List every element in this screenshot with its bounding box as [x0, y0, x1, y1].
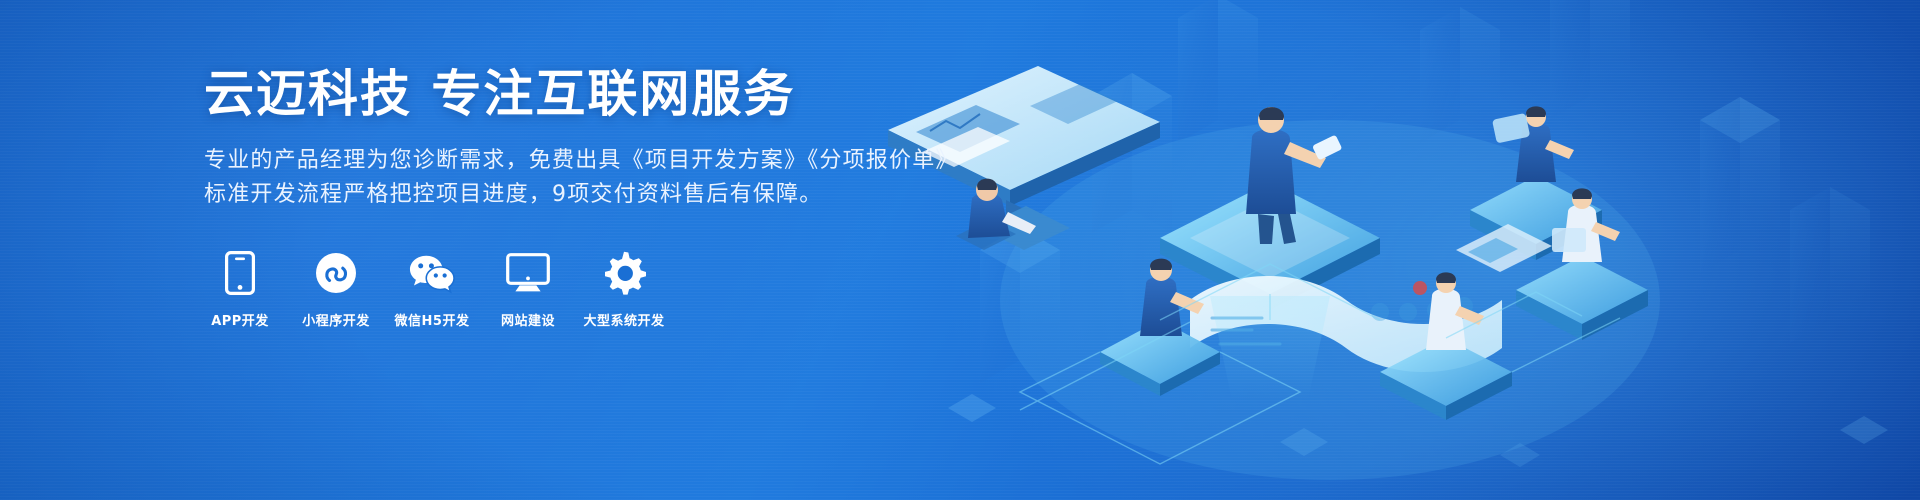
service-item-system[interactable]: 大型系统开发 [588, 250, 660, 329]
mobile-phone-icon [217, 250, 263, 296]
subtitle-line-1: 专业的产品经理为您诊断需求，免费出具《项目开发方案》《分项报价单》 [204, 144, 1104, 178]
wechat-icon [409, 250, 455, 296]
monitor-icon [505, 250, 551, 296]
service-item-miniprogram[interactable]: 小程序开发 [300, 250, 372, 329]
banner-subtitle: 专业的产品经理为您诊断需求，免费出具《项目开发方案》《分项报价单》 标准开发流程… [204, 144, 1104, 212]
service-label-wechat: 微信H5开发 [395, 310, 470, 329]
service-item-website[interactable]: 网站建设 [492, 250, 564, 329]
service-item-app[interactable]: APP开发 [204, 250, 276, 329]
banner-headline: 云迈科技 专注互联网服务 [204, 66, 1104, 122]
banner-content: 云迈科技 专注互联网服务 专业的产品经理为您诊断需求，免费出具《项目开发方案》《… [204, 66, 1104, 329]
service-label-website: 网站建设 [501, 310, 555, 329]
hero-banner: 云迈科技 专注互联网服务 专业的产品经理为您诊断需求，免费出具《项目开发方案》《… [0, 0, 1920, 500]
service-item-wechat[interactable]: 微信H5开发 [396, 250, 468, 329]
service-label-miniprogram: 小程序开发 [302, 310, 370, 329]
service-label-system: 大型系统开发 [584, 310, 665, 329]
subtitle-line-2: 标准开发流程严格把控项目进度，9项交付资料售后有保障。 [204, 178, 1104, 212]
mini-program-icon [313, 250, 359, 296]
gear-icon [601, 250, 647, 296]
service-label-app: APP开发 [211, 310, 269, 329]
service-icon-list: APP开发 小程序开发 [204, 250, 1104, 329]
